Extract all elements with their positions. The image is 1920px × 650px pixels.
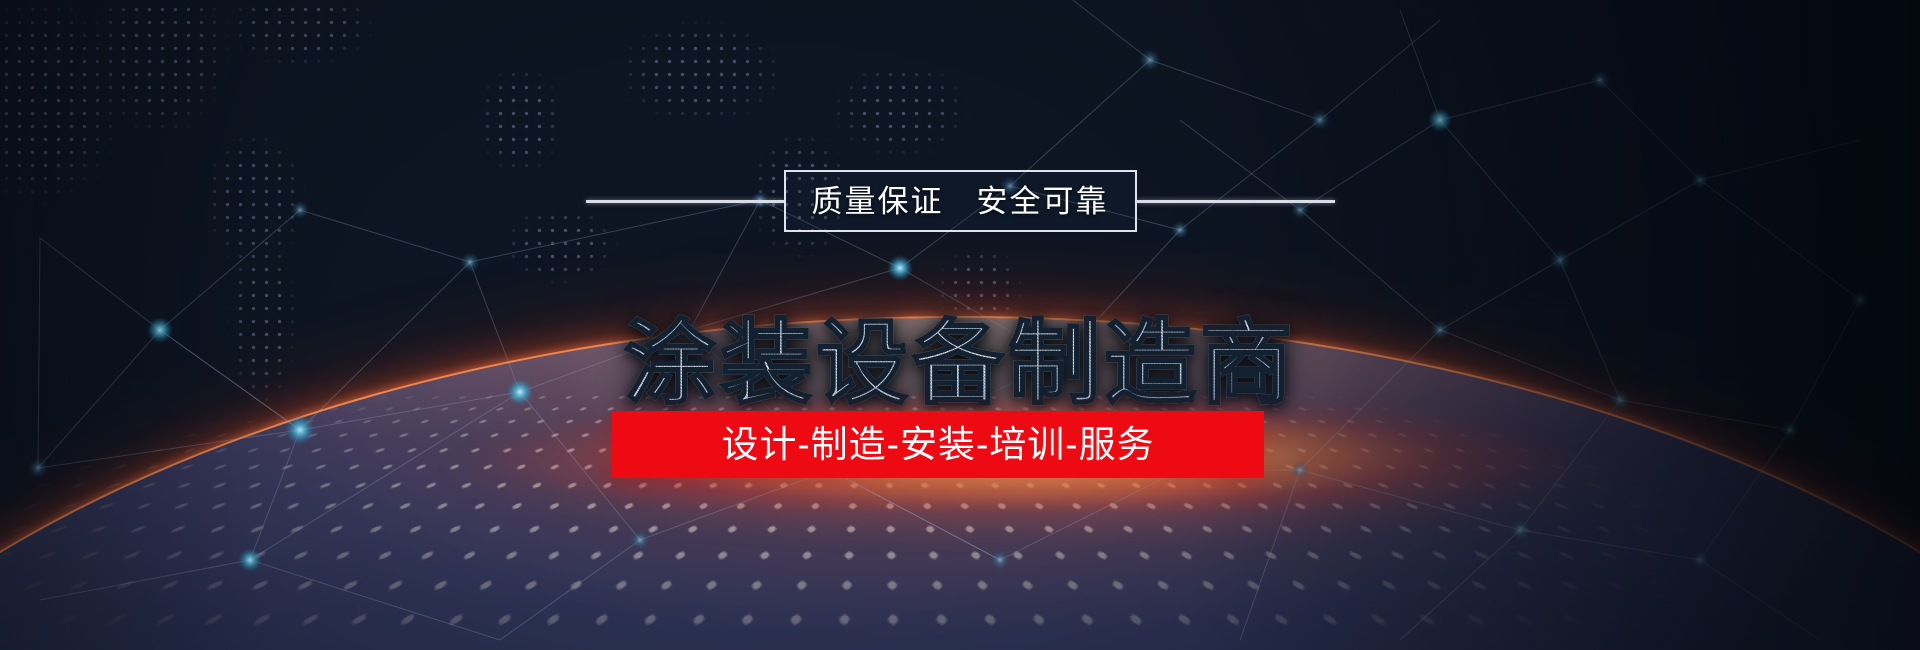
hero-banner: 质量保证 安全可靠 涂装设备制造商 设计-制造-安装-培训-服务 bbox=[0, 0, 1920, 650]
eyebrow-left-rule bbox=[586, 200, 784, 203]
eyebrow-right-rule bbox=[1137, 200, 1335, 203]
service-bar-text: 设计-制造-安装-培训-服务 bbox=[721, 426, 1154, 463]
eyebrow-block: 质量保证 安全可靠 bbox=[0, 170, 1920, 232]
service-bar: 设计-制造-安装-培训-服务 bbox=[612, 411, 1264, 478]
banner-content: 质量保证 安全可靠 涂装设备制造商 设计-制造-安装-培训-服务 bbox=[0, 0, 1920, 650]
eyebrow-box: 质量保证 安全可靠 bbox=[784, 170, 1137, 232]
eyebrow-text: 质量保证 安全可靠 bbox=[812, 186, 1109, 217]
banner-title: 涂装设备制造商 bbox=[0, 314, 1920, 415]
